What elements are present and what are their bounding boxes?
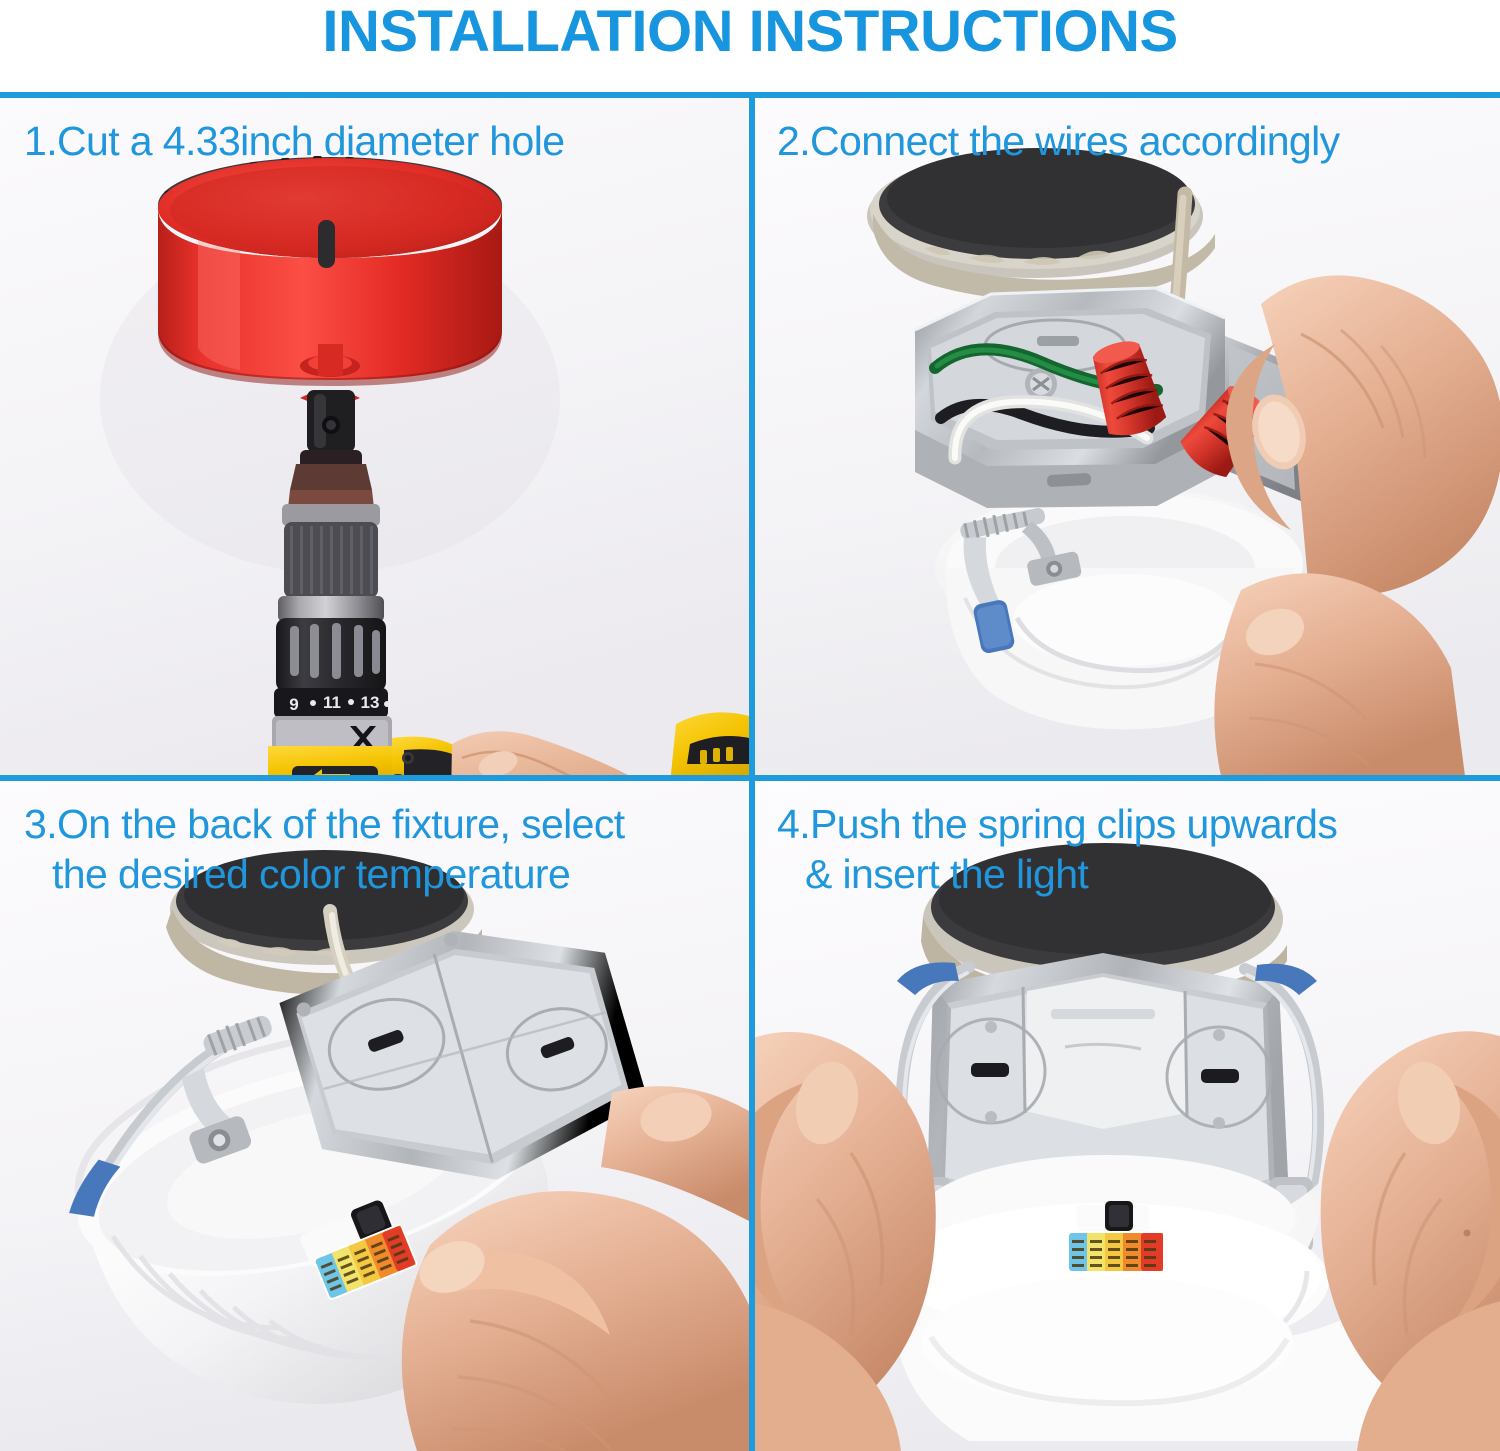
step-2-illustration xyxy=(755,98,1500,775)
cct-label-graphic xyxy=(1067,1231,1165,1273)
step-panel-3: 3.On the back of the fixture, select the… xyxy=(0,775,755,1451)
step-panel-2: 2.Connect the wires accordingly xyxy=(755,92,1500,775)
svg-text:11: 11 xyxy=(323,693,341,712)
installation-instructions-infographic: INSTALLATION INSTRUCTIONS xyxy=(0,0,1500,1451)
ceiling-hole-graphic xyxy=(867,148,1215,301)
step-panel-1: 9 11 13 xyxy=(0,92,755,775)
hole-saw-graphic xyxy=(158,156,502,405)
svg-text:13: 13 xyxy=(361,693,380,712)
step-4-illustration xyxy=(755,781,1500,1451)
step-1-illustration: 9 11 13 xyxy=(0,98,749,775)
svg-text:9: 9 xyxy=(289,695,298,714)
step-3-illustration xyxy=(0,781,749,1451)
steps-grid: 9 11 13 xyxy=(0,92,1500,1451)
page-title: INSTALLATION INSTRUCTIONS xyxy=(322,0,1177,63)
arbor-graphic xyxy=(300,390,362,470)
page-title-bar: INSTALLATION INSTRUCTIONS xyxy=(0,0,1500,92)
step-panel-4: 4.Push the spring clips upwards & insert… xyxy=(755,775,1500,1451)
